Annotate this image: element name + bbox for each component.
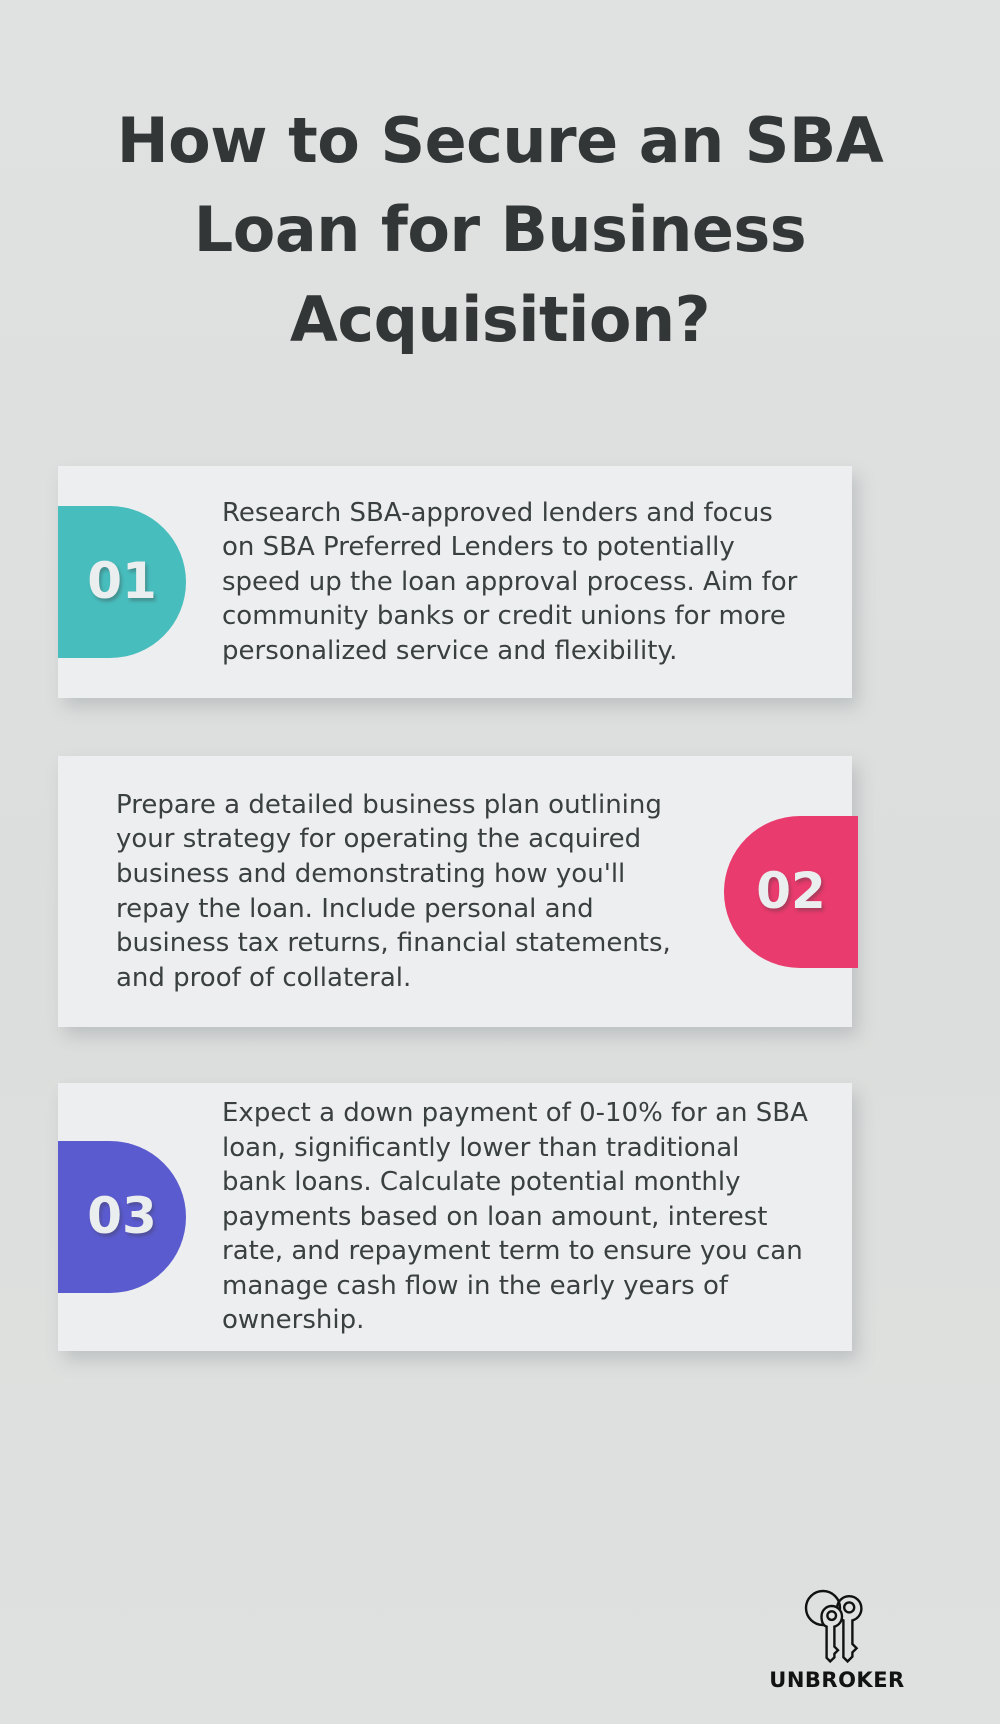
infographic-page: How to Secure an SBA Loan for Business A…	[0, 0, 1000, 1724]
page-title: How to Secure an SBA Loan for Business A…	[90, 96, 910, 364]
step-number-label-2: 02	[756, 862, 826, 920]
step-number-label-1: 01	[87, 552, 157, 610]
step-number-badge-1: 01	[58, 506, 186, 658]
step-number-badge-2: 02	[724, 816, 858, 968]
step-description-3: Expect a down payment of 0-10% for an SB…	[186, 1096, 852, 1338]
page-title-container: How to Secure an SBA Loan for Business A…	[90, 96, 910, 364]
brand-name: UNBROKER	[769, 1668, 904, 1692]
keys-icon	[789, 1588, 885, 1666]
step-card-3: 03 Expect a down payment of 0-10% for an…	[58, 1083, 852, 1351]
brand-logo: UNBROKER	[742, 1588, 932, 1706]
step-description-2: Prepare a detailed business plan outlini…	[58, 788, 724, 995]
step-description-1: Research SBA-approved lenders and focus …	[186, 496, 852, 669]
step-card-2: 02 Prepare a detailed business plan outl…	[58, 756, 852, 1027]
step-card-1: 01 Research SBA-approved lenders and foc…	[58, 466, 852, 698]
step-number-badge-3: 03	[58, 1141, 186, 1293]
step-number-label-3: 03	[87, 1187, 157, 1245]
